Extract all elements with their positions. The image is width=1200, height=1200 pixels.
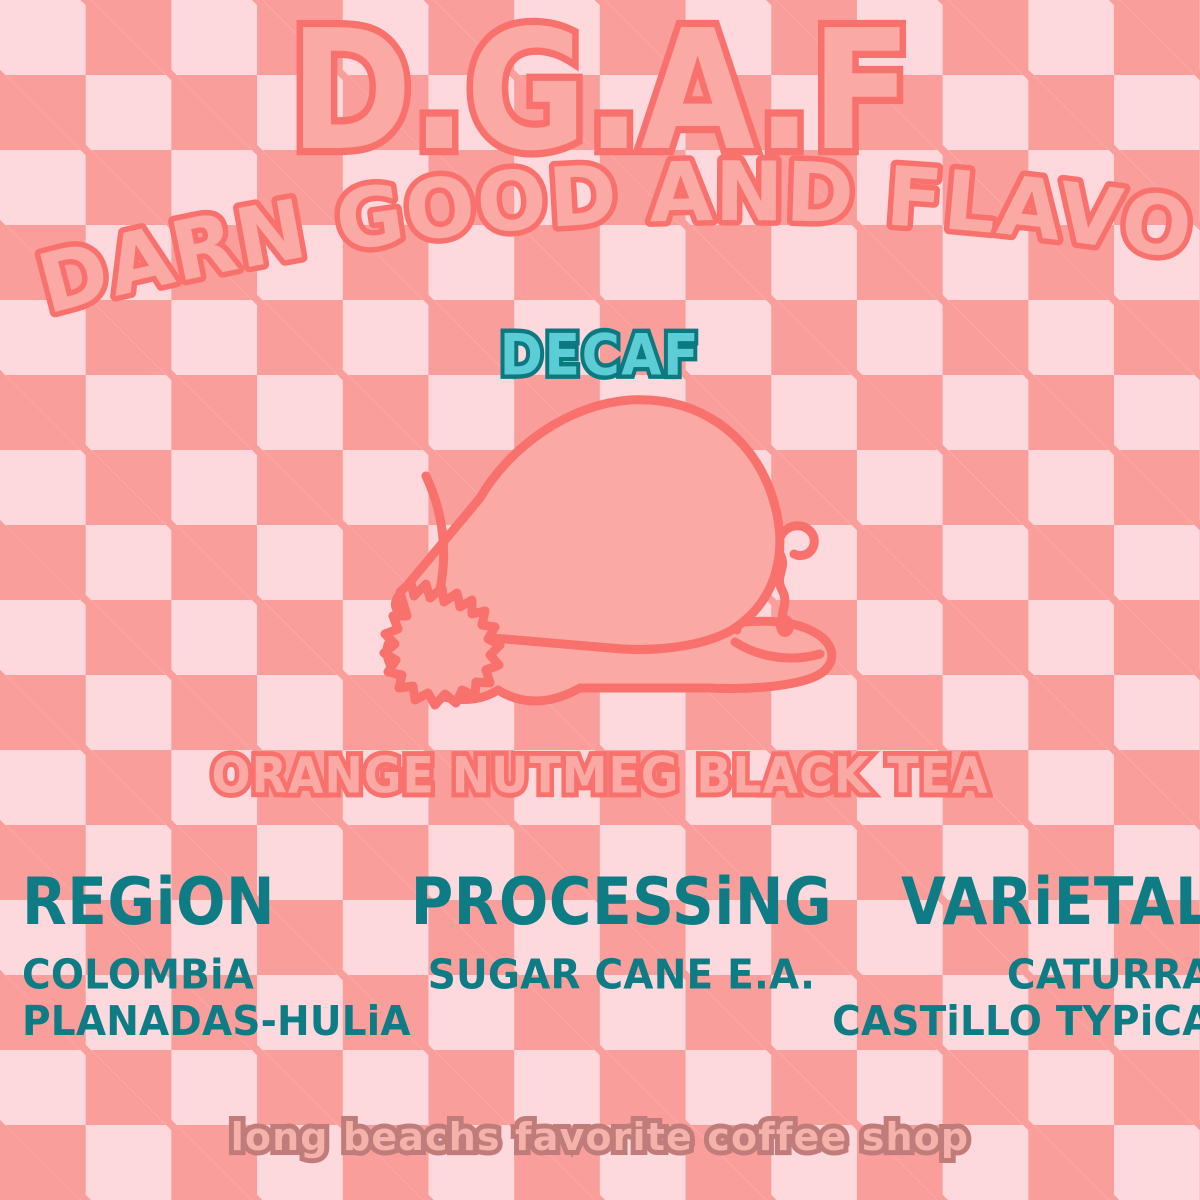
footer-container: long beachs favorite coffee shop <box>0 1118 1200 1156</box>
tasting-notes: ORANGE NUTMEG BLACK TEA <box>212 750 989 800</box>
decaf-label: DECAF <box>500 327 700 384</box>
info-column-processing: PROCESSiNG SUGAR CANE E.A. <box>411 868 832 997</box>
info-heading-region: REGiON <box>22 868 275 936</box>
info-heading-varietal: VARiETAL <box>901 868 1200 936</box>
info-values-processing: SUGAR CANE E.A. <box>428 953 815 999</box>
snail-eye <box>776 615 794 637</box>
info-value-line: SUGAR CANE E.A. <box>428 953 815 999</box>
snail-svg <box>280 380 880 740</box>
tasting-notes-container: ORANGE NUTMEG BLACK TEA <box>0 752 1200 798</box>
snail-illustration <box>280 380 880 740</box>
coffee-label-poster: D.G.A.F DARN GOOD AND FLAVORFUL DECAF <box>0 0 1200 1200</box>
info-value-line: CASTiLLO TYPiCA <box>832 999 1200 1045</box>
info-values-region: COLOMBiA PLANADAS-HULiA <box>22 953 411 1045</box>
info-value-line: COLOMBiA <box>22 953 411 999</box>
info-column-region: REGiON COLOMBiA PLANADAS-HULiA <box>22 868 411 1040</box>
arched-subtitle-container: DARN GOOD AND FLAVORFUL <box>0 196 1200 326</box>
info-heading-processing: PROCESSiNG <box>411 868 832 936</box>
info-value-line: PLANADAS-HULiA <box>22 999 411 1045</box>
info-value-line: CATURRA <box>832 953 1200 999</box>
info-columns: REGiON COLOMBiA PLANADAS-HULiA PROCESSiN… <box>0 868 1200 1040</box>
decaf-container: DECAF <box>0 330 1200 382</box>
info-column-varietal: VARiETAL CATURRA CASTiLLO TYPiCA <box>832 868 1200 1040</box>
arched-subtitle-svg: DARN GOOD AND FLAVORFUL <box>0 196 1200 326</box>
title-container: D.G.A.F <box>0 8 1200 156</box>
footer-tagline: long beachs favorite coffee shop <box>231 1118 970 1156</box>
info-values-varietal: CATURRA CASTiLLO TYPiCA <box>832 953 1200 1045</box>
